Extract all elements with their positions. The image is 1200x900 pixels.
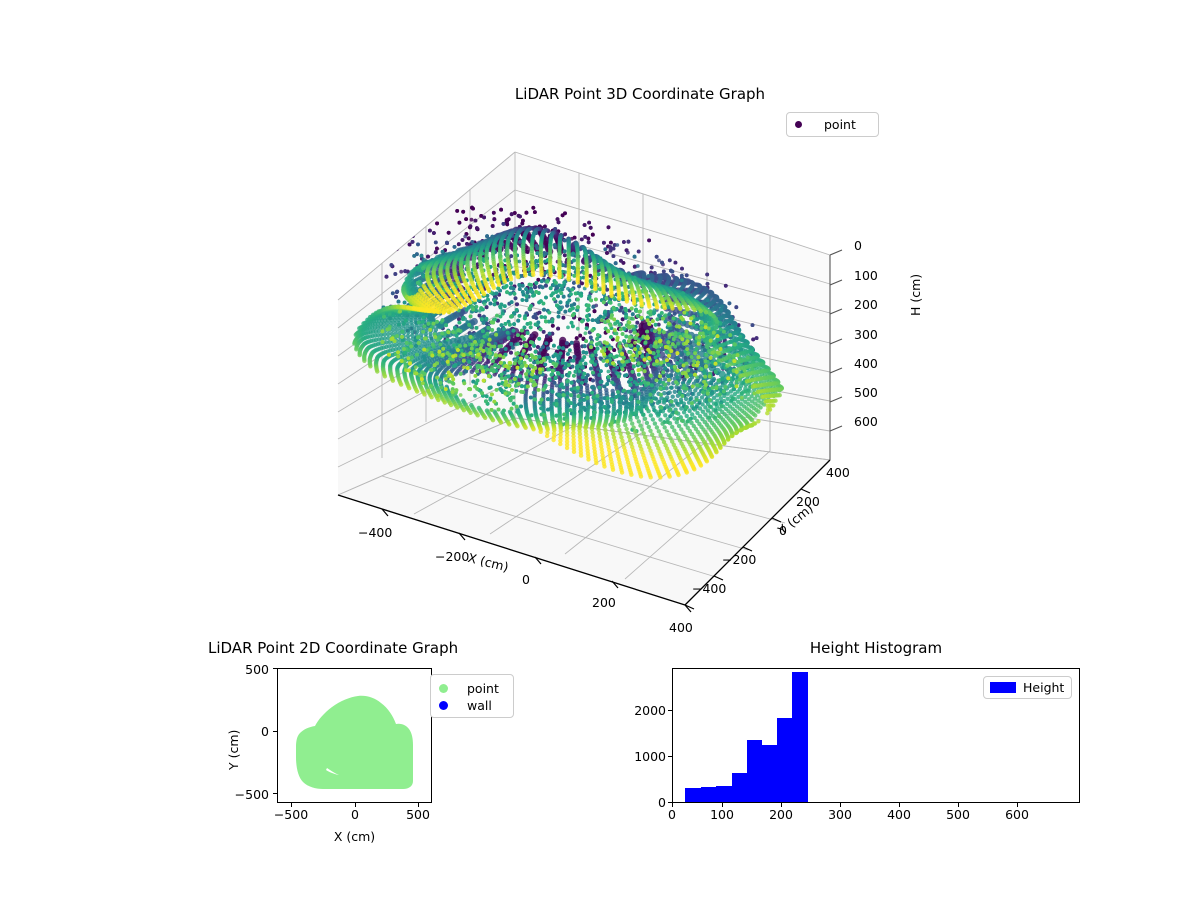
h-tick-0: 0 <box>854 238 862 253</box>
plot2d-title: LiDAR Point 2D Coordinate Graph <box>208 638 458 657</box>
hist-y-tick-1000: 1000 <box>620 749 666 764</box>
h-tick-400: 400 <box>854 356 878 371</box>
hist-x-tickmark-300 <box>840 803 841 807</box>
histogram-bar <box>747 740 762 802</box>
plot2d-x-tick-500: 500 <box>393 807 443 822</box>
y-tick-m400: −400 <box>692 581 726 596</box>
plot2d-y-tickmark-500 <box>273 668 277 669</box>
hist-x-tickmark-400 <box>899 803 900 807</box>
plot2d-x-tickmark-m500 <box>291 803 292 807</box>
hist-x-tick-100: 100 <box>700 807 744 822</box>
histogram-bar <box>716 786 731 802</box>
plot2d-x-tickmark-0 <box>355 803 356 807</box>
histogram-legend[interactable]: Height <box>983 676 1072 699</box>
h-tick-100: 100 <box>854 268 878 283</box>
hist-y-tickmark-1000 <box>668 756 672 757</box>
point-marker-icon <box>439 684 448 693</box>
plot2d-y-tick-m500: −500 <box>229 787 269 802</box>
plot2d-x-tick-m500: −500 <box>266 807 316 822</box>
h-tick-300: 300 <box>854 327 878 342</box>
x-tick-200: 200 <box>592 595 616 610</box>
hist-y-tickmark-2000 <box>668 710 672 711</box>
hist-x-tick-200: 200 <box>759 807 803 822</box>
wall-marker-icon <box>439 701 448 710</box>
plot2d-y-axis-label: Y (cm) <box>226 730 241 770</box>
plot2d-y-tickmark-m500 <box>273 793 277 794</box>
plot2d-x-tick-0: 0 <box>330 807 380 822</box>
point-cloud-region <box>296 696 413 789</box>
plot2d-legend-label-point: point <box>467 681 499 696</box>
plot2d-y-tick-500: 500 <box>239 662 269 677</box>
x-tick-0: 0 <box>522 572 530 587</box>
histogram-title: Height Histogram <box>672 638 1080 657</box>
point-marker-icon <box>795 121 802 128</box>
hist-x-tickmark-100 <box>722 803 723 807</box>
hist-x-tick-0: 0 <box>654 807 690 822</box>
plot2d-legend-label-wall: wall <box>467 698 492 713</box>
plot2d-point-cloud <box>278 669 432 803</box>
histogram-bar <box>685 788 700 802</box>
plot2d-x-tickmark-500 <box>418 803 419 807</box>
y-tick-m200: −200 <box>722 552 756 567</box>
plot3d-title: LiDAR Point 3D Coordinate Graph <box>330 84 950 103</box>
height-color-patch-icon <box>990 682 1016 693</box>
h-tick-500: 500 <box>854 385 878 400</box>
hist-x-tick-600: 600 <box>995 807 1039 822</box>
plot2d-legend[interactable]: point wall <box>430 674 514 718</box>
x-tick-400: 400 <box>669 620 693 635</box>
histogram-bar <box>792 672 807 802</box>
hist-x-tick-300: 300 <box>818 807 862 822</box>
plot2d-x-axis-label: X (cm) <box>277 829 432 844</box>
y-tick-400: 400 <box>826 465 850 480</box>
hist-x-tick-400: 400 <box>877 807 921 822</box>
hist-x-tick-500: 500 <box>936 807 980 822</box>
histogram-bar <box>701 787 716 802</box>
lidar-2d-axes[interactable] <box>277 668 432 803</box>
hist-x-tickmark-600 <box>1017 803 1018 807</box>
h-tick-200: 200 <box>854 297 878 312</box>
plot2d-legend-row-point[interactable]: point <box>439 680 505 697</box>
matplotlib-figure: LiDAR Point 3D Coordinate Graph point <box>0 0 1200 900</box>
h-tick-600: 600 <box>854 414 878 429</box>
plot2d-y-tickmark-0 <box>273 731 277 732</box>
plot3d-legend-label: point <box>824 117 856 132</box>
x-tick-m400: −400 <box>358 525 392 540</box>
plot3d-legend[interactable]: point <box>786 112 879 137</box>
plot3d-h-ticks <box>830 250 842 431</box>
histogram-bar <box>762 745 777 802</box>
hist-y-tick-2000: 2000 <box>620 703 666 718</box>
hist-x-tickmark-200 <box>781 803 782 807</box>
hist-x-tickmark-0 <box>672 803 673 807</box>
plot2d-legend-row-wall[interactable]: wall <box>439 697 505 714</box>
h-axis-label: H (cm) <box>908 274 923 316</box>
histogram-bar <box>777 718 792 802</box>
x-tick-m200: −200 <box>435 549 469 564</box>
histogram-legend-label: Height <box>1023 680 1064 695</box>
hist-x-tickmark-500 <box>958 803 959 807</box>
plot2d-y-tick-0: 0 <box>239 724 269 739</box>
lidar-3d-axes[interactable]: LiDAR Point 3D Coordinate Graph point <box>330 140 950 630</box>
histogram-bar <box>732 773 747 802</box>
